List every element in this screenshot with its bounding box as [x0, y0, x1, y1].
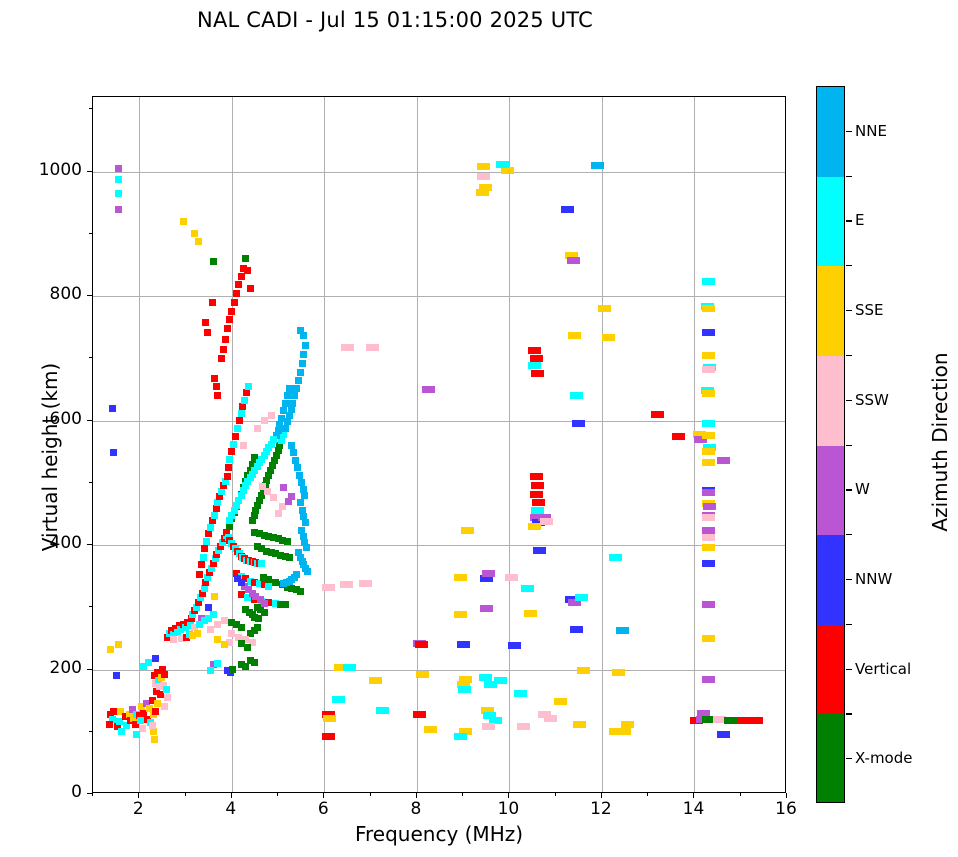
- y-axis-tick-label: 1000: [22, 160, 82, 180]
- data-point: [196, 621, 203, 628]
- data-point: [265, 576, 272, 583]
- data-point: [702, 390, 715, 397]
- data-point: [200, 554, 207, 561]
- data-point: [201, 545, 208, 552]
- x-axis-tick: [323, 793, 324, 798]
- colorbar-tick: [846, 400, 852, 401]
- y-axis-tick: [87, 669, 92, 670]
- data-point: [232, 433, 239, 440]
- data-point: [454, 733, 467, 740]
- data-point: [702, 278, 715, 285]
- page-title: NAL CADI - Jul 15 01:15:00 2025 UTC: [0, 8, 790, 32]
- data-point: [575, 594, 588, 601]
- data-point: [294, 464, 301, 471]
- data-point: [561, 206, 574, 213]
- data-point: [235, 281, 242, 288]
- colorbar-tick: [846, 489, 852, 490]
- data-point: [340, 581, 353, 588]
- colorbar-label-ssw: SSW: [855, 391, 889, 409]
- data-point: [261, 417, 268, 424]
- data-point: [458, 686, 471, 693]
- data-point: [239, 403, 246, 410]
- data-point: [532, 499, 545, 506]
- data-point: [220, 346, 227, 353]
- data-point: [702, 560, 715, 567]
- data-point: [214, 660, 221, 667]
- data-point: [343, 664, 356, 671]
- data-point: [198, 561, 205, 568]
- data-point: [226, 456, 233, 463]
- x-axis-minor-tick: [370, 793, 371, 796]
- colorbar-tick: [846, 579, 852, 580]
- data-point: [275, 510, 282, 517]
- data-point: [211, 512, 218, 519]
- x-axis-tick-label: 6: [293, 799, 353, 819]
- data-point: [297, 588, 304, 595]
- data-point: [161, 671, 168, 678]
- data-point: [293, 385, 300, 392]
- y-axis-tick-label: 0: [22, 782, 82, 802]
- data-point: [201, 585, 208, 592]
- data-point: [234, 425, 241, 432]
- y-axis-tick: [87, 544, 92, 545]
- data-point: [359, 580, 372, 587]
- data-point: [133, 731, 140, 738]
- data-point: [531, 507, 544, 514]
- data-point: [115, 165, 122, 172]
- colorbar-segment-x-mode: [817, 714, 844, 803]
- data-point: [540, 518, 553, 525]
- data-point: [284, 392, 291, 399]
- data-point: [243, 389, 250, 396]
- data-point: [482, 723, 495, 730]
- data-point: [702, 432, 715, 439]
- data-point: [528, 362, 541, 369]
- x-axis-minor-tick: [277, 793, 278, 796]
- data-point: [234, 575, 241, 582]
- data-point: [270, 494, 277, 501]
- x-axis-minor-tick: [740, 793, 741, 796]
- data-point: [297, 327, 304, 334]
- data-point: [461, 527, 474, 534]
- data-point: [702, 635, 715, 642]
- data-point: [268, 412, 275, 419]
- data-point: [292, 457, 299, 464]
- data-point: [231, 299, 238, 306]
- data-point: [258, 560, 265, 567]
- data-point: [376, 707, 389, 714]
- colorbar-boundary-tick: [846, 445, 852, 446]
- data-point: [479, 674, 492, 681]
- data-point: [288, 442, 295, 449]
- y-axis-tick: [87, 171, 92, 172]
- x-axis-minor-tick: [185, 793, 186, 796]
- data-point: [702, 527, 715, 534]
- colorbar-boundary-tick: [846, 265, 852, 266]
- data-point: [291, 392, 298, 399]
- colorbar-segment-nne: [817, 87, 844, 177]
- data-point: [724, 717, 737, 724]
- data-point: [297, 499, 304, 506]
- data-point: [501, 167, 514, 174]
- data-point: [218, 355, 225, 362]
- data-point: [233, 290, 240, 297]
- data-point: [209, 299, 216, 306]
- data-point: [140, 663, 147, 670]
- data-point: [244, 644, 251, 651]
- data-point: [415, 641, 428, 648]
- data-point: [152, 655, 159, 662]
- data-point: [702, 420, 715, 427]
- data-point: [598, 305, 611, 312]
- x-axis-label: Frequency (MHz): [92, 822, 786, 846]
- data-point: [702, 448, 715, 455]
- data-point: [341, 344, 354, 351]
- data-point: [567, 257, 580, 264]
- data-point: [424, 726, 437, 733]
- data-point: [717, 457, 730, 464]
- data-point: [508, 642, 521, 649]
- data-point: [115, 176, 122, 183]
- x-axis-tick: [601, 793, 602, 798]
- data-point: [702, 329, 715, 336]
- data-point: [289, 400, 296, 407]
- x-axis-tick-label: 10: [478, 799, 538, 819]
- data-point: [530, 355, 543, 362]
- data-point: [106, 721, 113, 728]
- data-point: [244, 267, 251, 274]
- data-point: [302, 519, 309, 526]
- data-point: [282, 400, 289, 407]
- data-point: [161, 703, 168, 710]
- data-point: [459, 676, 472, 683]
- data-point: [207, 667, 214, 674]
- data-point: [261, 600, 268, 607]
- data-point: [651, 411, 664, 418]
- data-point: [238, 273, 245, 280]
- data-point: [226, 316, 233, 323]
- scatter-data-layer: [93, 97, 785, 792]
- data-point: [457, 641, 470, 648]
- data-point: [322, 733, 335, 740]
- data-point: [750, 717, 763, 724]
- y-axis-tick: [87, 793, 92, 794]
- data-point: [211, 375, 218, 382]
- data-point: [229, 666, 236, 673]
- data-point: [702, 514, 715, 521]
- data-point: [110, 449, 117, 456]
- data-point: [236, 417, 243, 424]
- colorbar-boundary-tick: [846, 176, 852, 177]
- x-axis-minor-tick: [462, 793, 463, 796]
- data-point: [280, 484, 287, 491]
- data-point: [573, 721, 586, 728]
- data-point: [137, 717, 144, 724]
- data-point: [202, 319, 209, 326]
- data-point: [210, 258, 217, 265]
- data-point: [322, 584, 335, 591]
- data-point: [280, 580, 287, 587]
- data-point: [245, 383, 252, 390]
- colorbar-segment-vertical: [817, 625, 844, 715]
- y-axis-minor-tick: [89, 108, 92, 109]
- data-point: [482, 570, 495, 577]
- data-point: [702, 534, 715, 541]
- colorbar-boundary-tick: [846, 624, 852, 625]
- plot-area: [92, 96, 786, 793]
- data-point: [533, 547, 546, 554]
- data-point: [366, 344, 379, 351]
- data-point: [702, 366, 715, 373]
- colorbar-boundary-tick: [846, 534, 852, 535]
- data-point: [591, 162, 604, 169]
- data-point: [149, 722, 156, 729]
- data-point: [413, 711, 426, 718]
- data-point: [242, 255, 249, 262]
- data-point: [214, 499, 221, 506]
- x-axis-tick: [786, 793, 787, 798]
- colorbar-boundary-tick: [846, 713, 852, 714]
- data-point: [602, 334, 615, 341]
- y-axis-minor-tick: [89, 482, 92, 483]
- data-point: [621, 721, 634, 728]
- data-point: [221, 617, 228, 624]
- y-axis-tick: [87, 420, 92, 421]
- data-point: [505, 574, 518, 581]
- data-point: [494, 677, 507, 684]
- data-point: [211, 593, 218, 600]
- data-point: [113, 672, 120, 679]
- data-point: [454, 611, 467, 618]
- y-axis-minor-tick: [89, 233, 92, 234]
- data-point: [290, 449, 297, 456]
- data-point: [295, 377, 302, 384]
- data-point: [702, 676, 715, 683]
- colorbar-tick: [846, 131, 852, 132]
- data-point: [702, 352, 715, 359]
- data-point: [207, 524, 214, 531]
- y-axis-minor-tick: [89, 606, 92, 607]
- data-point: [196, 571, 203, 578]
- data-point: [517, 723, 530, 730]
- data-point: [247, 285, 254, 292]
- data-point: [251, 659, 258, 666]
- y-axis-tick-label: 200: [22, 658, 82, 678]
- data-point: [180, 218, 187, 225]
- data-point: [703, 503, 716, 510]
- data-point: [531, 482, 544, 489]
- data-point: [195, 238, 202, 245]
- x-axis-tick-label: 4: [201, 799, 261, 819]
- colorbar-tick: [846, 310, 852, 311]
- data-point: [454, 574, 467, 581]
- data-point: [554, 698, 567, 705]
- data-point: [238, 410, 245, 417]
- data-point: [228, 630, 235, 637]
- data-point: [115, 190, 122, 197]
- data-point: [238, 591, 245, 598]
- x-axis-tick-label: 16: [756, 799, 816, 819]
- colorbar-label-w: W: [855, 480, 870, 498]
- data-point: [672, 433, 685, 440]
- ionogram-page: NAL CADI - Jul 15 01:15:00 2025 UTC 2468…: [0, 0, 958, 857]
- data-point: [259, 483, 266, 490]
- x-axis-minor-tick: [92, 793, 93, 796]
- data-point: [302, 342, 309, 349]
- data-point: [609, 554, 622, 561]
- data-point: [115, 206, 122, 213]
- data-point: [151, 736, 158, 743]
- data-point: [416, 671, 429, 678]
- data-point: [323, 715, 336, 722]
- data-point: [191, 230, 198, 237]
- x-axis-tick: [693, 793, 694, 798]
- data-point: [170, 636, 177, 643]
- data-point: [164, 694, 171, 701]
- x-axis-tick-label: 14: [663, 799, 723, 819]
- data-point: [224, 473, 231, 480]
- data-point: [286, 554, 293, 561]
- data-point: [240, 442, 247, 449]
- data-point: [226, 517, 233, 524]
- data-point: [570, 392, 583, 399]
- data-point: [477, 163, 490, 170]
- x-axis-tick: [508, 793, 509, 798]
- data-point: [228, 448, 235, 455]
- colorbar-segment-nnw: [817, 535, 844, 625]
- colorbar-label-x-mode: X-mode: [855, 749, 912, 767]
- data-point: [332, 696, 345, 703]
- data-point: [288, 493, 295, 500]
- colorbar-tick: [846, 758, 852, 759]
- data-point: [214, 621, 221, 628]
- data-point: [204, 329, 211, 336]
- data-point: [702, 601, 715, 608]
- data-point: [154, 700, 161, 707]
- data-point: [189, 632, 196, 639]
- data-point: [152, 708, 159, 715]
- data-point: [207, 626, 214, 633]
- data-point: [524, 610, 537, 617]
- data-point: [205, 604, 212, 611]
- data-point: [496, 161, 509, 168]
- data-point: [228, 308, 235, 315]
- data-point: [213, 383, 220, 390]
- data-point: [702, 459, 715, 466]
- data-point: [222, 336, 229, 343]
- data-point: [255, 615, 262, 622]
- colorbar-segment-e: [817, 177, 844, 267]
- data-point: [221, 641, 228, 648]
- colorbar-label-vertical: Vertical: [855, 660, 911, 678]
- x-axis-minor-tick: [555, 793, 556, 796]
- data-point: [224, 325, 231, 332]
- data-point: [299, 360, 306, 367]
- data-point: [702, 544, 715, 551]
- data-point: [288, 406, 295, 413]
- data-point: [296, 472, 303, 479]
- data-point: [241, 397, 248, 404]
- data-point: [107, 646, 114, 653]
- data-point: [284, 538, 291, 545]
- data-point: [570, 626, 583, 633]
- y-axis-tick-label: 800: [22, 284, 82, 304]
- colorbar: [816, 86, 845, 803]
- data-point: [254, 425, 261, 432]
- colorbar-tick: [846, 220, 852, 221]
- data-point: [163, 686, 170, 693]
- data-point: [213, 505, 220, 512]
- x-axis-tick-label: 12: [571, 799, 631, 819]
- data-point: [476, 189, 489, 196]
- data-point: [577, 667, 590, 674]
- x-axis-tick: [231, 793, 232, 798]
- data-point: [737, 717, 750, 724]
- data-point: [205, 530, 212, 537]
- data-point: [139, 725, 146, 732]
- data-point: [214, 392, 221, 399]
- data-point: [572, 420, 585, 427]
- data-point: [304, 568, 311, 575]
- colorbar-label-nnw: NNW: [855, 570, 892, 588]
- colorbar-title: Azimuth Direction: [928, 292, 952, 592]
- data-point: [118, 728, 125, 735]
- colorbar-label-e: E: [855, 211, 864, 229]
- data-point: [369, 677, 382, 684]
- data-point: [612, 669, 625, 676]
- colorbar-segment-sse: [817, 266, 844, 356]
- colorbar-tick: [846, 669, 852, 670]
- data-point: [717, 731, 730, 738]
- data-point: [616, 627, 629, 634]
- y-axis-minor-tick: [89, 357, 92, 358]
- y-axis-label: Virtual height (km): [38, 307, 62, 607]
- data-point: [203, 538, 210, 545]
- data-point: [702, 305, 715, 312]
- y-axis-minor-tick: [89, 731, 92, 732]
- data-point: [530, 491, 543, 498]
- data-point: [514, 690, 527, 697]
- colorbar-segment-ssw: [817, 356, 844, 446]
- data-point: [521, 585, 534, 592]
- data-point: [528, 347, 541, 354]
- colorbar-segment-w: [817, 446, 844, 536]
- data-point: [272, 579, 279, 586]
- y-axis-tick: [87, 295, 92, 296]
- x-axis-tick: [138, 793, 139, 798]
- data-point: [280, 407, 287, 414]
- data-point: [477, 173, 490, 180]
- data-point: [702, 489, 715, 496]
- data-point: [214, 636, 221, 643]
- data-point: [242, 606, 249, 613]
- data-point: [282, 601, 289, 608]
- data-point: [265, 583, 272, 590]
- data-point: [297, 369, 304, 376]
- data-point: [230, 441, 237, 448]
- data-point: [115, 641, 122, 648]
- data-point: [109, 405, 116, 412]
- data-point: [150, 728, 157, 735]
- x-axis-tick-label: 8: [386, 799, 446, 819]
- x-axis-tick-label: 2: [108, 799, 168, 819]
- data-point: [480, 605, 493, 612]
- data-point: [618, 728, 631, 735]
- colorbar-label-sse: SSE: [855, 301, 884, 319]
- data-point: [531, 370, 544, 377]
- x-axis-tick: [416, 793, 417, 798]
- colorbar-boundary-tick: [846, 355, 852, 356]
